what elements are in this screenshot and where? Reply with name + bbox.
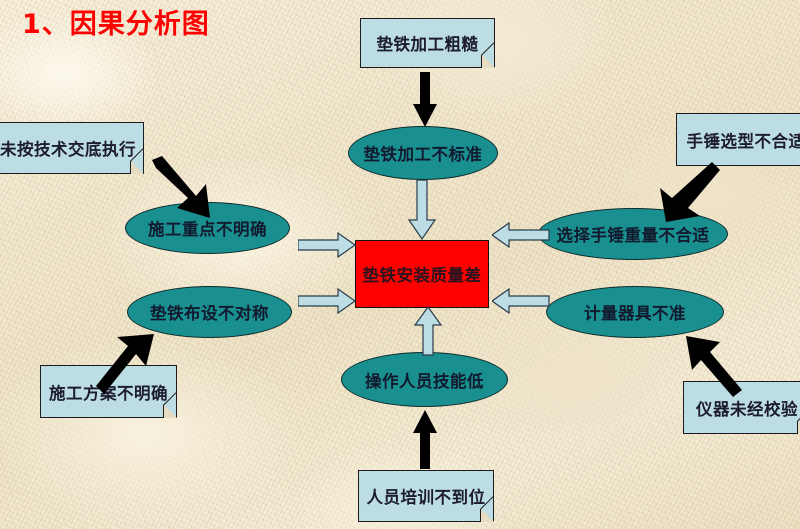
cause-oval-bottom[interactable]: 操作人员技能低 [341, 352, 508, 407]
note-label: 垫铁加工粗糙 [377, 31, 479, 55]
effect-box[interactable]: 垫铁安装质量差 [355, 240, 489, 308]
folded-corner-icon [130, 161, 144, 174]
block-arrow-lower-left-right-icon [298, 288, 356, 314]
block-arrow-upper-right-left-icon [492, 222, 550, 248]
cause-oval-lower-left[interactable]: 垫铁布设不对称 [127, 286, 292, 338]
note-label: 手锤选型不合适 [687, 128, 800, 152]
block-arrow-top-down-icon [408, 180, 436, 240]
cause-oval-top[interactable]: 垫铁加工不标准 [348, 126, 498, 180]
note-box-bottom[interactable]: 人员培训不到位 [358, 470, 494, 522]
solid-arrow-top-down-icon [412, 72, 438, 128]
folded-corner-icon [480, 509, 494, 522]
solid-arrow-bottom-up-icon [412, 410, 438, 470]
block-arrow-upper-left-right-icon [298, 232, 356, 258]
cause-label: 垫铁加工不标准 [364, 141, 483, 165]
solid-arrow-lower-right-diagonal-icon [680, 336, 752, 398]
cause-oval-lower-right[interactable]: 计量器具不准 [546, 286, 724, 338]
note-label: 未按技术交底执行 [0, 136, 136, 160]
slide-canvas: 1、因果分析图 垫铁加工粗糙 未按技术交底执行 施工方案不明确 手锤选型不合适 … [0, 0, 800, 529]
folded-corner-icon [481, 55, 495, 68]
block-arrow-lower-right-left-icon [492, 288, 550, 314]
block-arrow-bottom-up-icon [414, 306, 442, 356]
note-label: 仪器未经校验 [696, 396, 798, 420]
note-box-upper-right[interactable]: 手锤选型不合适 [676, 113, 800, 166]
effect-label: 垫铁安装质量差 [363, 262, 482, 286]
page-title: 1、因果分析图 [22, 2, 210, 41]
cause-label: 计量器具不准 [584, 300, 686, 324]
folded-corner-icon [163, 405, 177, 418]
cause-label: 垫铁布设不对称 [150, 300, 269, 324]
note-label: 人员培训不到位 [367, 484, 486, 508]
solid-arrow-lower-left-diagonal-icon [96, 332, 168, 398]
cause-label: 选择手锤重量不合适 [557, 222, 710, 246]
solid-arrow-upper-left-diagonal-icon [150, 156, 222, 222]
note-box-top[interactable]: 垫铁加工粗糙 [360, 18, 495, 68]
solid-arrow-upper-right-diagonal-icon [650, 160, 722, 222]
cause-label: 操作人员技能低 [365, 368, 484, 392]
note-box-upper-left[interactable]: 未按技术交底执行 [0, 122, 144, 174]
